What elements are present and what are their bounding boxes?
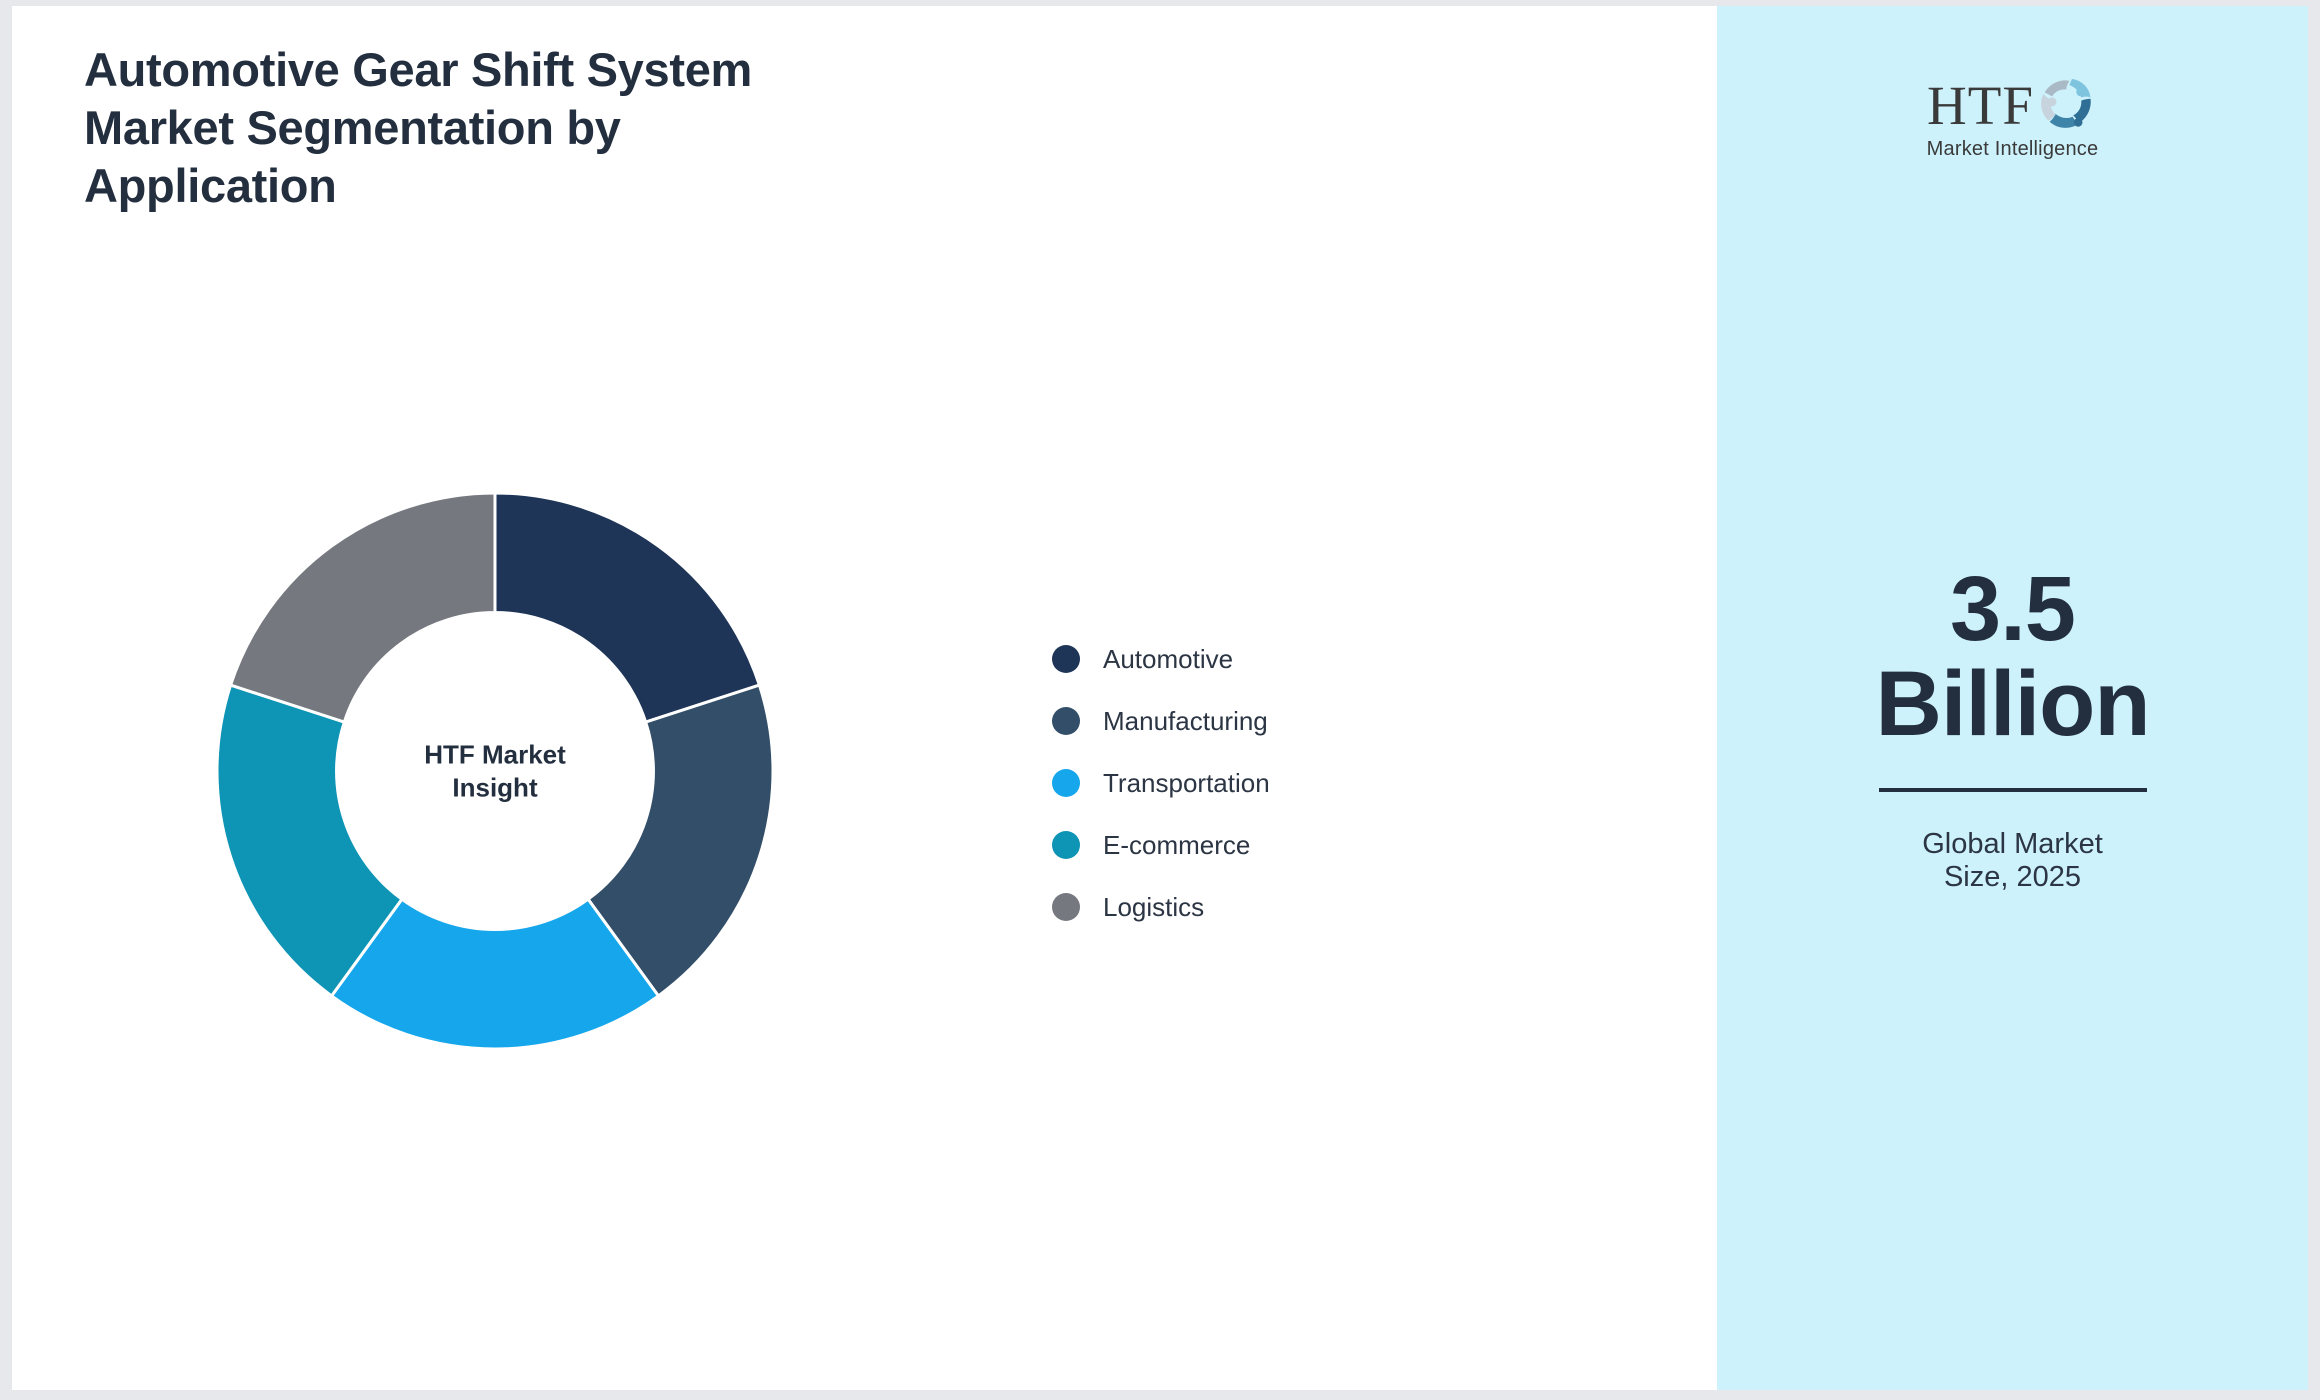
legend-swatch-icon bbox=[1052, 707, 1080, 735]
donut-graphic: HTF Market Insight bbox=[215, 491, 775, 1051]
logo-tagline: Market Intelligence bbox=[1888, 138, 2138, 161]
legend-swatch-icon bbox=[1052, 769, 1080, 797]
stat-caption-line-2: 2025 bbox=[2017, 861, 2082, 893]
stat-divider bbox=[1879, 788, 2147, 792]
legend-swatch-icon bbox=[1052, 645, 1080, 673]
donut-svg bbox=[215, 491, 775, 1051]
donut-slice-automotive[interactable] bbox=[495, 493, 759, 722]
legend-swatch-icon bbox=[1052, 831, 1080, 859]
legend-label: Automotive bbox=[1103, 644, 1233, 675]
sidebar-panel: HTF Market Intelligence 3.5 Billion bbox=[1717, 6, 2308, 1390]
legend-item-manufacturing[interactable]: Manufacturing bbox=[1052, 690, 1270, 752]
brand-logo: HTF Market Intelligence bbox=[1888, 74, 2138, 161]
legend-item-automotive[interactable]: Automotive bbox=[1052, 628, 1270, 690]
chart-legend: Automotive Manufacturing Transportation … bbox=[1052, 628, 1270, 938]
logo-row: HTF bbox=[1888, 74, 2138, 136]
legend-label: Manufacturing bbox=[1103, 706, 1268, 737]
legend-swatch-icon bbox=[1052, 893, 1080, 921]
htf-emblem-icon bbox=[2036, 74, 2098, 136]
stat-caption: Global Market Size, 2025 bbox=[1888, 828, 2138, 895]
donut-slice-logistics[interactable] bbox=[231, 493, 495, 722]
legend-label: Transportation bbox=[1103, 768, 1270, 799]
stat-value-line-1: 3.5 bbox=[1717, 562, 2308, 657]
legend-label: Logistics bbox=[1103, 892, 1204, 923]
content-panel: Automotive Gear Shift System Market Segm… bbox=[12, 6, 1717, 1390]
donut-chart: HTF Market Insight Automotive Manufactur… bbox=[12, 6, 1717, 1390]
stat-value: 3.5 Billion bbox=[1717, 562, 2308, 752]
legend-item-transportation[interactable]: Transportation bbox=[1052, 752, 1270, 814]
logo-wordmark: HTF bbox=[1927, 78, 2034, 133]
legend-item-e-commerce[interactable]: E-commerce bbox=[1052, 814, 1270, 876]
legend-item-logistics[interactable]: Logistics bbox=[1052, 876, 1270, 938]
stat-value-line-2: Billion bbox=[1717, 657, 2308, 752]
infographic-card: Automotive Gear Shift System Market Segm… bbox=[12, 6, 2308, 1390]
legend-label: E-commerce bbox=[1103, 830, 1250, 861]
market-size-stat: 3.5 Billion Global Market Size, 2025 bbox=[1717, 562, 2308, 894]
